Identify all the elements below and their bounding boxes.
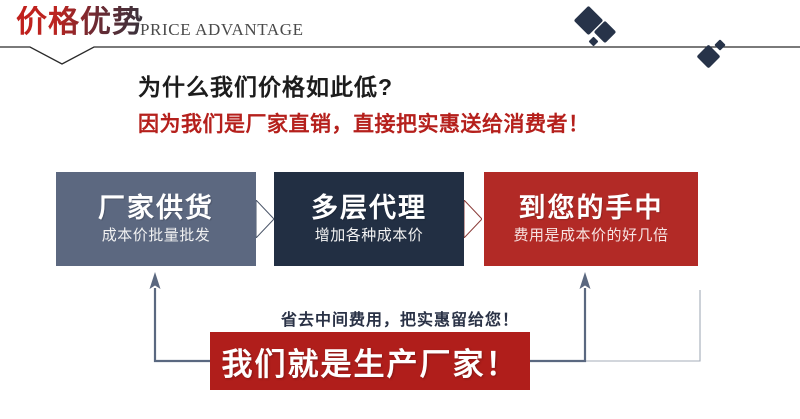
flow-step-subtitle: 费用是成本价的好几倍 [513, 228, 668, 245]
flow-step-customer: 到您的手中 费用是成本价的好几倍 [484, 172, 698, 266]
price-advantage-infographic: 价格优势 PRICE ADVANTAGE 为什么我们价格如此低? 因为我们是厂家… [0, 0, 800, 419]
flow-step-subtitle: 成本价批量批发 [102, 228, 211, 245]
savings-note: 省去中间费用，把实惠留给您！ [0, 306, 800, 330]
flow-step-title: 多层代理 [311, 194, 427, 222]
chevron-right-icon [256, 200, 274, 238]
flow-step-title: 厂家供货 [98, 194, 214, 222]
flow-step-manufacturer: 厂家供货 成本价批量批发 [56, 172, 256, 266]
banner-label: 我们就是生产厂家！ [222, 339, 519, 384]
chevron-right-icon [464, 200, 482, 238]
we-are-manufacturer-banner: 我们就是生产厂家！ [210, 332, 530, 390]
flow-step-subtitle: 增加各种成本价 [315, 228, 424, 245]
flow-step-title: 到您的手中 [519, 194, 664, 222]
flow-step-agents: 多层代理 增加各种成本价 [274, 172, 464, 266]
